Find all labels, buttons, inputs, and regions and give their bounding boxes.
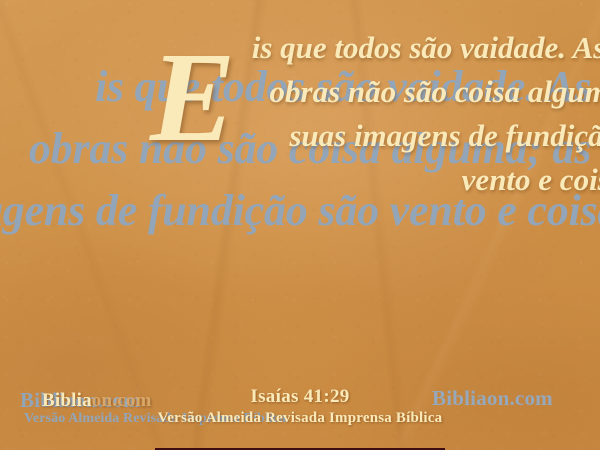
verse-image-canvas: Eis que todos são vaidade. As suas obras… xyxy=(0,0,600,450)
bible-version-label: Versão Almeida Revisada Imprensa Bíblica xyxy=(0,410,600,427)
verse-text: Eis que todos são vaidade. As suas obras… xyxy=(150,26,600,202)
ghost-dropcap: E xyxy=(0,56,9,165)
verse-dropcap: E xyxy=(150,26,237,148)
verse-reference: Isaías 41:29 xyxy=(0,386,600,408)
verse-body: is que todos são vaidade. As suas obras … xyxy=(252,30,600,197)
